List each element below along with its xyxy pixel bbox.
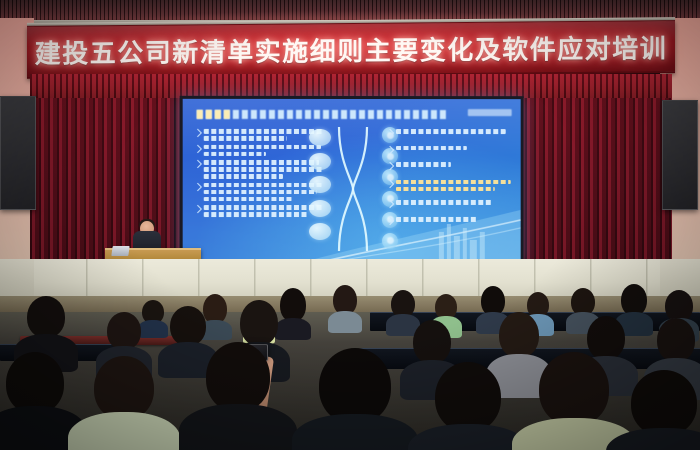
- person-head: [6, 352, 64, 414]
- slide-bullet: [387, 180, 511, 192]
- presenter-laptop: [111, 246, 129, 256]
- audience-person: [76, 356, 172, 450]
- chevron-right-icon: [386, 129, 394, 137]
- audience-person: [416, 362, 520, 450]
- banner-title: 建投五公司新清单实施细则主要变化及软件应对培训: [35, 28, 668, 71]
- slide-bullet: [195, 129, 323, 141]
- person-torso: [408, 424, 528, 450]
- slide-bullet: [195, 160, 323, 179]
- slide-bullet: [195, 183, 323, 202]
- slide-bullet: [387, 129, 511, 134]
- chevron-right-icon: [193, 205, 202, 214]
- person-head: [539, 352, 609, 426]
- person-torso: [179, 404, 297, 450]
- person-head: [631, 370, 697, 436]
- chevron-right-icon: [193, 160, 202, 169]
- projection-screen-frame: [180, 96, 524, 265]
- wall-speaker-panel-right: [662, 100, 698, 210]
- node-circle: [382, 233, 398, 249]
- slide-left-column: [195, 129, 323, 221]
- person-torso: [68, 412, 180, 450]
- person-torso: [606, 428, 700, 450]
- event-banner: 建投五公司新清单实施细则主要变化及软件应对培训: [27, 20, 675, 79]
- slide-bullet: [195, 205, 323, 217]
- audience-person: [330, 285, 360, 329]
- person-head: [206, 342, 270, 412]
- slide-bullet: [387, 146, 511, 151]
- slide-bullet: [387, 217, 511, 222]
- slide-title-text: [197, 110, 447, 119]
- chevron-right-icon: [386, 180, 394, 188]
- slide-title-accent: [197, 110, 231, 119]
- slide-bullet: [387, 162, 511, 167]
- slide-logo-watermark: [468, 109, 512, 116]
- audience-person: [614, 370, 700, 450]
- person-head: [657, 318, 695, 362]
- person-torso: [292, 414, 418, 450]
- chevron-right-icon: [386, 162, 394, 170]
- wall-speaker-panel-left: [0, 96, 36, 210]
- chevron-right-icon: [193, 182, 202, 191]
- audience-person: [520, 352, 628, 450]
- person-head: [107, 312, 141, 350]
- person-head: [170, 306, 206, 346]
- chevron-right-icon: [386, 217, 394, 225]
- person-head: [94, 356, 154, 420]
- person-head: [435, 362, 501, 432]
- slide-hourglass-graphic: [307, 125, 399, 253]
- audience-person: [300, 348, 410, 450]
- slide-bullet: [387, 200, 511, 205]
- person-torso: [328, 311, 362, 333]
- person-head: [240, 300, 278, 346]
- chevron-right-icon: [193, 129, 202, 138]
- chevron-right-icon: [193, 144, 202, 153]
- person-head: [319, 348, 391, 424]
- projection-screen: [183, 99, 521, 262]
- slide-right-column: [387, 129, 511, 226]
- person-head: [413, 320, 451, 364]
- audience-person: [188, 342, 288, 450]
- person-head: [27, 296, 65, 338]
- chevron-right-icon: [386, 145, 394, 153]
- slide-bullet: [195, 145, 323, 157]
- auditorium-photo: 建投五公司新清单实施细则主要变化及软件应对培训: [0, 0, 700, 450]
- chevron-right-icon: [386, 200, 394, 208]
- tiled-wall-left: [0, 259, 34, 299]
